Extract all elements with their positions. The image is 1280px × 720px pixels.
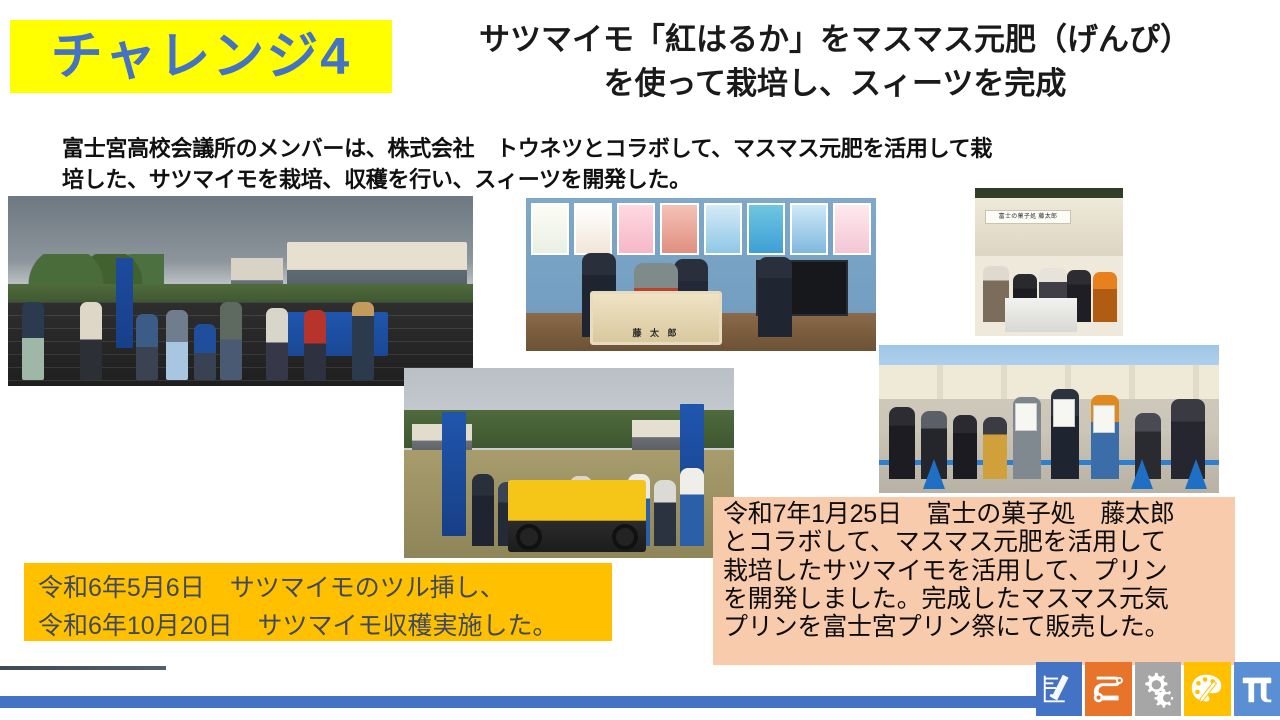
- photo-artwork: [617, 203, 655, 255]
- photo-artwork: [704, 203, 742, 255]
- photo-person: [80, 302, 102, 380]
- steam-tile-technology: [1085, 662, 1131, 716]
- caption-line-5: プリンを富士宮プリン祭にて販売した。: [723, 613, 1227, 641]
- harvest-machine-photo: [404, 368, 734, 558]
- photo-person: [166, 310, 188, 380]
- photo-person: [1093, 272, 1117, 322]
- photo-person: [194, 324, 216, 380]
- photo-harvester: [508, 480, 646, 552]
- gears-icon: [1139, 670, 1177, 708]
- page-title-line-2: を使って栽培し、スィーツを完成: [398, 62, 1272, 106]
- photo-harvester-wheel: [516, 524, 542, 550]
- caption-line-4: を開発しました。完成したマスマス元気: [723, 585, 1227, 613]
- photo-person: [983, 417, 1007, 479]
- photo-person: [654, 480, 676, 546]
- steam-tile-science: [1036, 662, 1082, 716]
- page-title-line-1: サツマイモ「紅はるか」をマスマス元肥（げんぴ）: [398, 18, 1272, 62]
- booth-tent-photo: 富士の菓子処 藤太郎: [975, 188, 1123, 336]
- photo-tent-roof: [975, 198, 1123, 256]
- steam-tile-engineering: [1135, 662, 1181, 716]
- caption-line-1: 令和7年1月25日 富士の菓子処 藤太郎: [723, 500, 1227, 528]
- photo-person: [472, 474, 494, 546]
- photo-sweets-tray: 藤 太 郎: [590, 291, 722, 345]
- photo-nobori-masumasu: [442, 412, 466, 536]
- beaker-icon: [1040, 670, 1078, 708]
- lead-paragraph: 富士宮高校会議所のメンバーは、株式会社 トウネツとコラボして、マスマス元肥を活用…: [62, 133, 1262, 195]
- photo-person: [220, 302, 242, 380]
- photo-person: [758, 257, 792, 337]
- photo-booth-sign: 富士の菓子処 藤太郎: [985, 210, 1071, 224]
- caption-line-1: 令和6年5月6日 サツマイモのツル挿し、: [38, 570, 598, 608]
- photo-person: [304, 310, 326, 380]
- caption-planting-harvest: 令和6年5月6日 サツマイモのツル挿し、 令和6年10月20日 サツマイモ収穫実…: [24, 563, 612, 641]
- wrench-icon: [1090, 670, 1128, 708]
- photo-flyer: [1093, 405, 1115, 433]
- caption-line-2: 令和6年10月20日 サツマイモ収穫実施した。: [38, 608, 598, 646]
- photo-traffic-cone: [1131, 459, 1153, 489]
- classroom-sweets-photo: 藤 太 郎: [526, 198, 876, 351]
- photo-artwork: [833, 203, 871, 255]
- photo-traffic-cone: [1185, 459, 1207, 489]
- footer-bar: [0, 696, 1062, 708]
- palette-icon: [1188, 670, 1226, 708]
- caption-line-3: 栽培したサツマイモを活用して、プリン: [723, 557, 1227, 585]
- challenge-badge: チャレンジ4: [10, 20, 392, 93]
- festival-crowd-photo: [879, 345, 1219, 493]
- photo-person: [266, 308, 288, 380]
- photo-person: [22, 302, 44, 380]
- photo-person: [136, 314, 158, 380]
- photo-tray-label: 藤 太 郎: [593, 326, 719, 339]
- steam-tile-art: [1184, 662, 1230, 716]
- photo-person: [889, 407, 915, 479]
- photo-person: [680, 468, 704, 546]
- page-title: サツマイモ「紅はるか」をマスマス元肥（げんぴ） を使って栽培し、スィーツを完成: [398, 18, 1272, 106]
- photo-traffic-cone: [923, 459, 945, 489]
- lead-line-1: 富士宮高校会議所のメンバーは、株式会社 トウネツとコラボして、マスマス元肥を活用…: [62, 133, 1262, 164]
- steam-tile-math: [1234, 662, 1280, 716]
- pi-icon: [1238, 670, 1276, 708]
- photo-artwork-row: [526, 198, 876, 264]
- photo-nobori-flag: [116, 258, 133, 348]
- footer-accent-rule: [0, 666, 166, 670]
- photo-artwork: [574, 203, 612, 255]
- photo-harvester-wheel: [612, 524, 638, 550]
- photo-artwork: [660, 203, 698, 255]
- photo-person: [953, 415, 977, 479]
- photo-person: [352, 302, 374, 380]
- photo-flyer: [1015, 403, 1037, 431]
- photo-artwork: [747, 203, 785, 255]
- photo-flyer: [1053, 399, 1075, 427]
- photo-artwork: [531, 203, 569, 255]
- caption-line-2: とコラボして、マスマス元肥を活用して: [723, 528, 1227, 556]
- photo-counter: [1005, 298, 1077, 332]
- photo-festival-tents: [879, 365, 1219, 399]
- photo-artwork: [790, 203, 828, 255]
- challenge-badge-label: チャレンジ4: [51, 31, 351, 83]
- steam-logo: [1036, 662, 1280, 716]
- caption-pudding-development: 令和7年1月25日 富士の菓子処 藤太郎 とコラボして、マスマス元肥を活用して …: [713, 497, 1235, 665]
- field-group-photo: [8, 196, 473, 386]
- slide-canvas: チャレンジ4 サツマイモ「紅はるか」をマスマス元肥（げんぴ） を使って栽培し、ス…: [0, 0, 1280, 720]
